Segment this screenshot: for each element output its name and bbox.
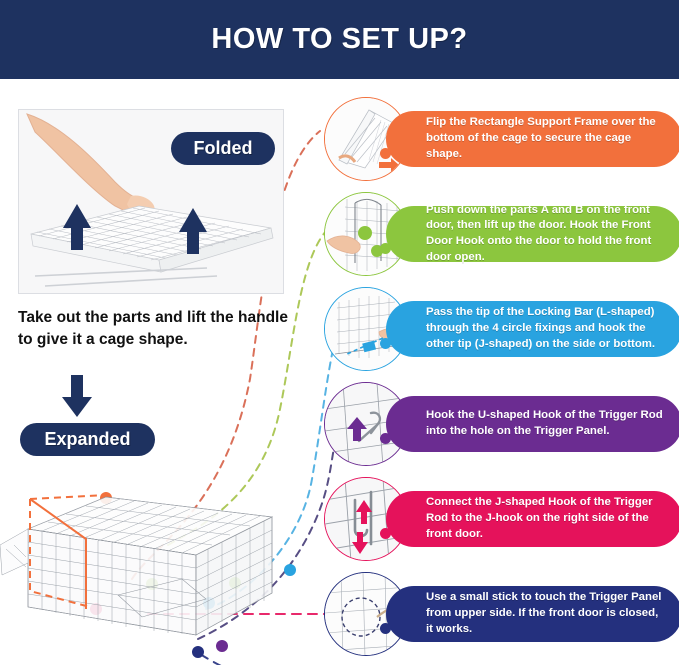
step-6-text: Use a small stick to touch the Trigger P… <box>386 590 679 637</box>
step-5-anchor-dot <box>380 528 391 539</box>
step-3-callout: Pass the tip of the Locking Bar (L-shape… <box>386 301 679 357</box>
expanded-badge: Expanded <box>20 423 155 456</box>
step-1-anchor-dot <box>380 148 391 159</box>
expanded-cage-wireframe <box>0 459 320 659</box>
down-arrow-icon <box>60 375 94 417</box>
step-3-anchor-dot <box>380 338 391 349</box>
step-3-text: Pass the tip of the Locking Bar (L-shape… <box>386 305 679 352</box>
step-4-anchor-dot <box>380 433 391 444</box>
step-row-2: Push down the parts A and B on the front… <box>324 192 674 280</box>
step-row-4: Hook the U-shaped Hook of the Trigger Ro… <box>324 382 674 470</box>
step-6-callout: Use a small stick to touch the Trigger P… <box>386 586 679 642</box>
step-4-text: Hook the U-shaped Hook of the Trigger Ro… <box>386 408 679 439</box>
step-row-5: Connect the J-shaped Hook of the Trigger… <box>324 477 674 565</box>
left-panel-caption: Take out the parts and lift the handle t… <box>18 307 288 351</box>
page-header: HOW TO SET UP? <box>0 0 679 79</box>
step-2-text: Push down the parts A and B on the front… <box>386 203 679 266</box>
step-5-callout: Connect the J-shaped Hook of the Trigger… <box>386 491 679 547</box>
step-row-3: Pass the tip of the Locking Bar (L-shape… <box>324 287 674 375</box>
step-row-6: Use a small stick to touch the Trigger P… <box>324 572 674 660</box>
step-row-1: Flip the Rectangle Support Frame over th… <box>324 97 674 185</box>
folded-trap-photo: Folded <box>18 109 284 294</box>
step-6-anchor-dot <box>380 623 391 634</box>
folded-badge: Folded <box>171 132 275 165</box>
page-title: HOW TO SET UP? <box>211 23 467 56</box>
instruction-stage: Folded Take out the parts and lift the h… <box>0 79 679 665</box>
step-2-callout: Push down the parts A and B on the front… <box>386 206 679 262</box>
step-1-text: Flip the Rectangle Support Frame over th… <box>386 115 679 162</box>
step-5-text: Connect the J-shaped Hook of the Trigger… <box>386 495 679 542</box>
step-2-anchor-dot <box>380 243 391 254</box>
step-4-callout: Hook the U-shaped Hook of the Trigger Ro… <box>386 396 679 452</box>
step-1-callout: Flip the Rectangle Support Frame over th… <box>386 111 679 167</box>
